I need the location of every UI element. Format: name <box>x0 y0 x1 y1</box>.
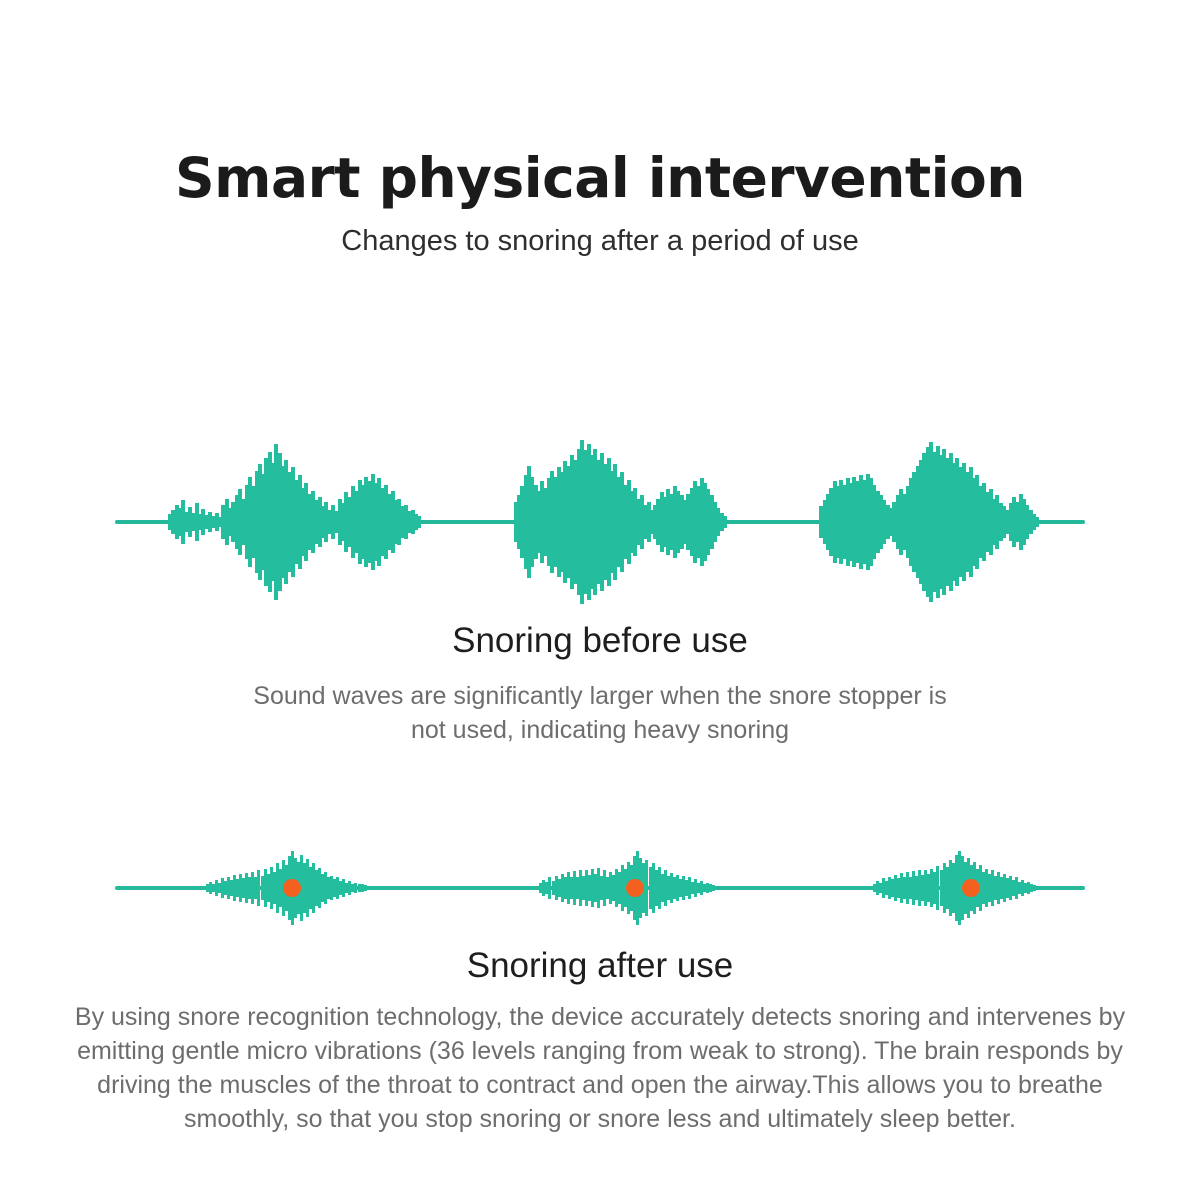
micro-vibration-marker-icon <box>626 879 644 897</box>
heading-snoring-before-use: Snoring before use <box>0 620 1200 661</box>
caption-before-use: Snoring before use Sound waves are signi… <box>0 620 1200 747</box>
snore-stopper-infographic: Smart physical intervention Changes to s… <box>0 0 1200 1200</box>
heading-snoring-after-use: Snoring after use <box>0 945 1200 986</box>
waveform-after-use <box>0 838 1200 938</box>
waveform-before-canvas <box>115 432 1085 612</box>
waveform-bars-before <box>115 432 1085 612</box>
waveform-bar <box>1035 517 1039 526</box>
waveform-bars-after <box>115 838 1085 938</box>
page-subtitle: Changes to snoring after a period of use <box>0 224 1200 259</box>
waveform-before-use <box>0 432 1200 612</box>
header: Smart physical intervention Changes to s… <box>0 148 1200 258</box>
waveform-bar <box>417 516 421 528</box>
waveform-after-canvas <box>115 838 1085 938</box>
waveform-bar <box>1033 885 1036 890</box>
body-snoring-after-use: By using snore recognition technology, t… <box>70 1000 1130 1136</box>
body-snoring-before-use: Sound waves are significantly larger whe… <box>250 679 950 747</box>
waveform-bar <box>367 886 370 890</box>
page-title: Smart physical intervention <box>0 148 1200 210</box>
caption-after-use: Snoring after use By using snore recogni… <box>0 945 1200 1136</box>
waveform-bar <box>723 516 727 528</box>
waveform-bar <box>712 885 715 890</box>
